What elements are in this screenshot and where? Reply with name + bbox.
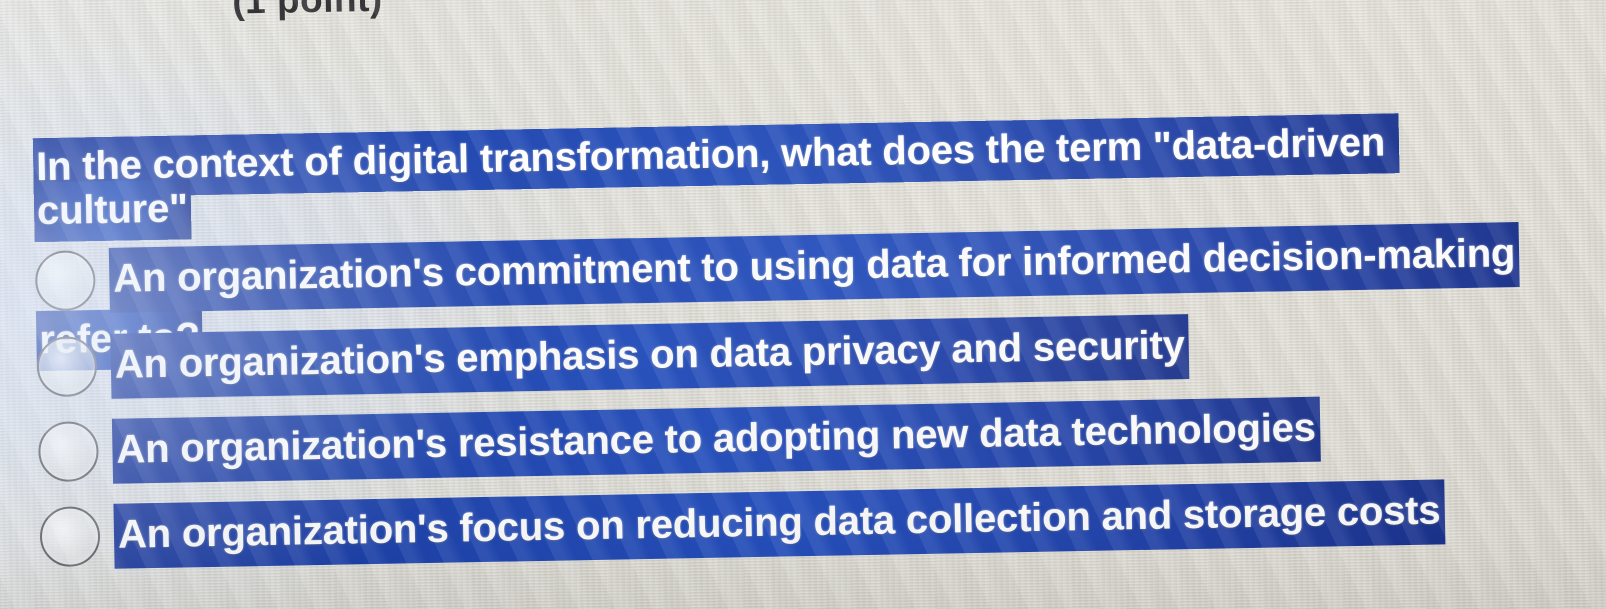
radio-button-icon-2[interactable] xyxy=(36,336,97,397)
answer-option-label-2[interactable]: An organization's emphasis on data priva… xyxy=(110,314,1189,399)
quiz-content: (1 point) In the context of digital tran… xyxy=(0,0,1606,609)
answer-option-label-1[interactable]: An organization's commitment to using da… xyxy=(109,222,1520,313)
answer-option-label-3[interactable]: An organization's resistance to adopting… xyxy=(112,396,1320,483)
points-label: (1 point) xyxy=(232,0,383,23)
radio-button-icon-3[interactable] xyxy=(38,421,99,482)
radio-button-icon-1[interactable] xyxy=(35,250,96,311)
photographed-screen-surface: (1 point) In the context of digital tran… xyxy=(0,0,1606,609)
screenshot-root: (1 point) In the context of digital tran… xyxy=(0,0,1606,609)
answer-option-label-4[interactable]: An organization's focus on reducing data… xyxy=(113,479,1445,568)
radio-button-icon-4[interactable] xyxy=(39,506,100,567)
